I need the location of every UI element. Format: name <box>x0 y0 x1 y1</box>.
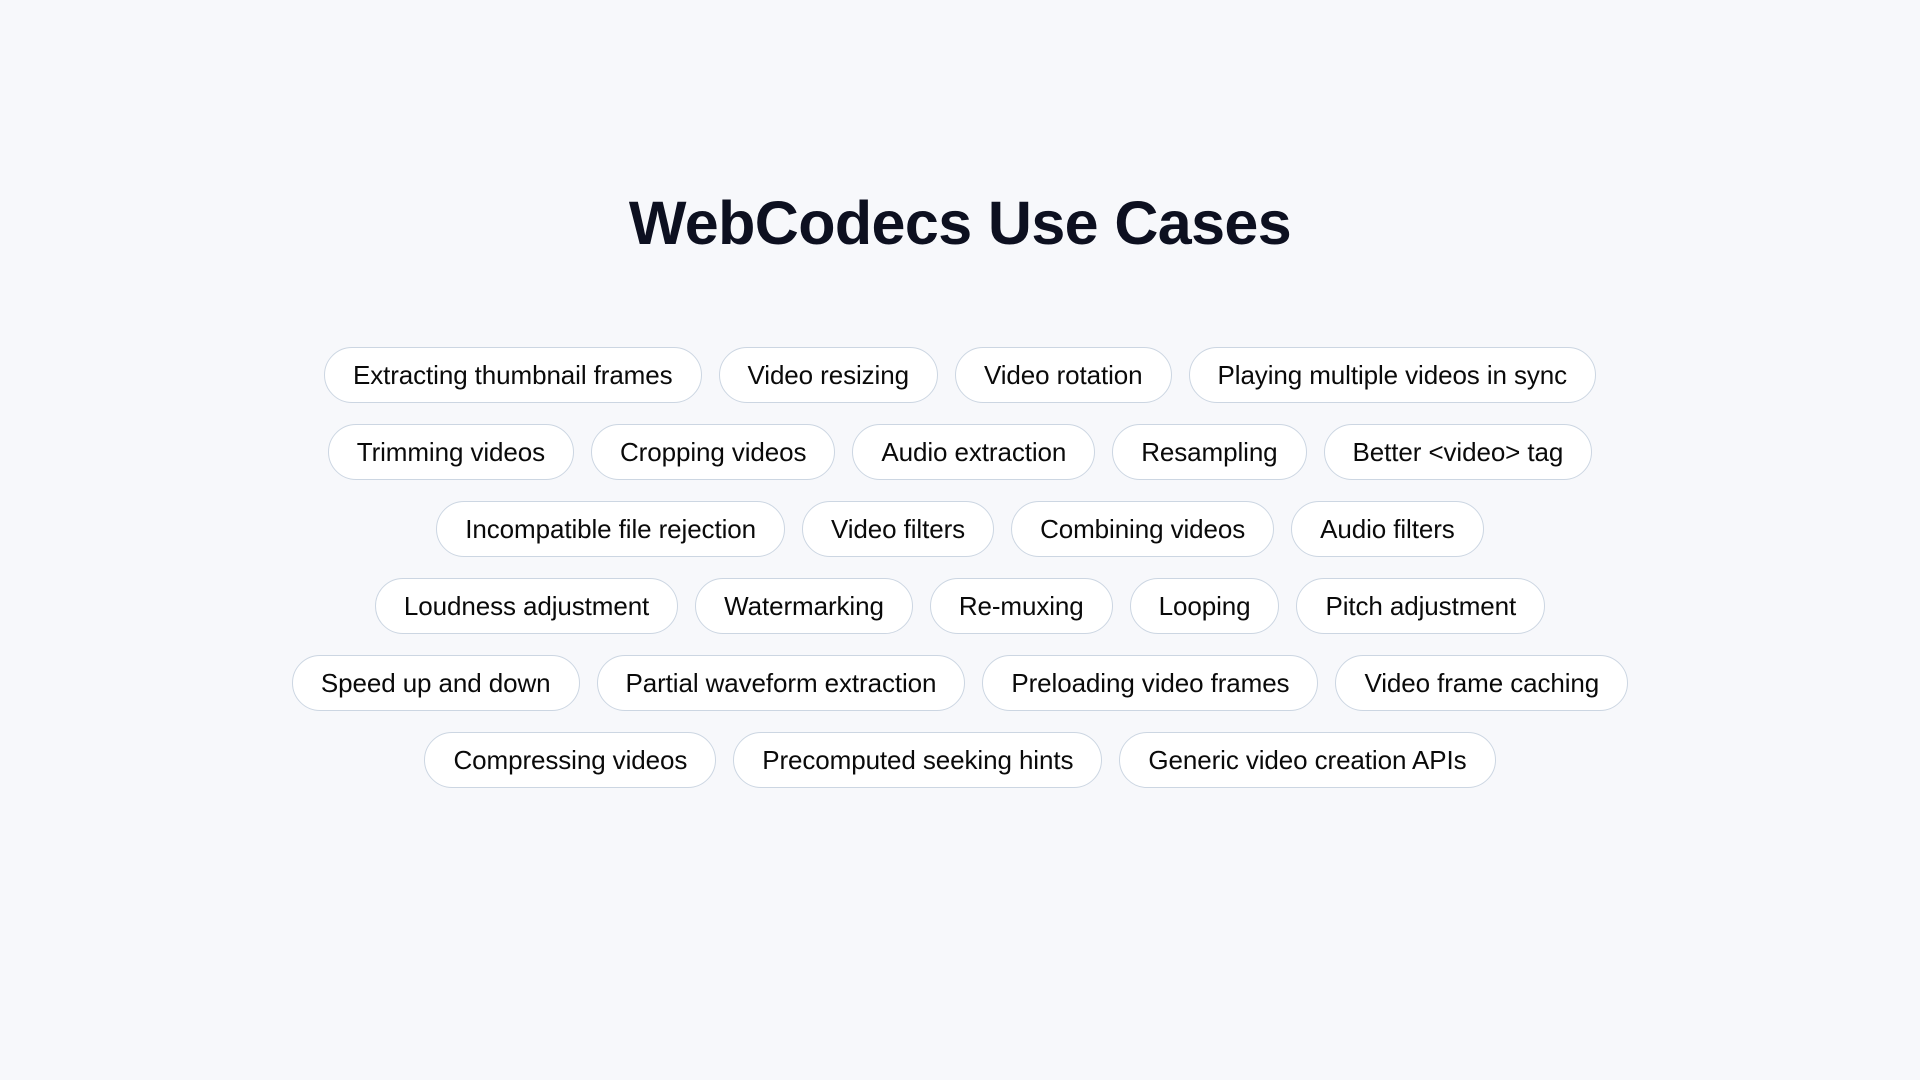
use-case-pill[interactable]: Resampling <box>1112 424 1306 480</box>
pill-row: Trimming videosCropping videosAudio extr… <box>110 424 1810 480</box>
use-case-pill[interactable]: Speed up and down <box>292 655 580 711</box>
use-case-pill[interactable]: Extracting thumbnail frames <box>324 347 702 403</box>
use-case-pill[interactable]: Audio filters <box>1291 501 1484 557</box>
use-case-pill[interactable]: Loudness adjustment <box>375 578 678 634</box>
use-case-pill-cloud: Extracting thumbnail framesVideo resizin… <box>110 347 1810 788</box>
use-case-pill[interactable]: Compressing videos <box>424 732 716 788</box>
use-case-pill[interactable]: Partial waveform extraction <box>597 655 966 711</box>
pill-row: Extracting thumbnail framesVideo resizin… <box>110 347 1810 403</box>
use-case-pill[interactable]: Incompatible file rejection <box>436 501 785 557</box>
page-root: WebCodecs Use Cases Extracting thumbnail… <box>0 0 1920 1080</box>
use-case-pill[interactable]: Video rotation <box>955 347 1172 403</box>
pill-row: Incompatible file rejectionVideo filters… <box>110 501 1810 557</box>
use-case-pill[interactable]: Video filters <box>802 501 994 557</box>
use-case-pill[interactable]: Video resizing <box>719 347 938 403</box>
use-case-pill[interactable]: Watermarking <box>695 578 913 634</box>
use-case-pill[interactable]: Trimming videos <box>328 424 574 480</box>
use-case-pill[interactable]: Looping <box>1130 578 1280 634</box>
use-case-pill[interactable]: Playing multiple videos in sync <box>1189 347 1597 403</box>
use-case-pill[interactable]: Preloading video frames <box>982 655 1318 711</box>
use-case-pill[interactable]: Generic video creation APIs <box>1119 732 1495 788</box>
use-case-pill[interactable]: Better <video> tag <box>1324 424 1593 480</box>
use-case-pill[interactable]: Audio extraction <box>852 424 1095 480</box>
use-case-pill[interactable]: Pitch adjustment <box>1296 578 1545 634</box>
pill-row: Speed up and downPartial waveform extrac… <box>110 655 1810 711</box>
use-case-pill[interactable]: Video frame caching <box>1335 655 1628 711</box>
pill-row: Loudness adjustmentWatermarkingRe-muxing… <box>110 578 1810 634</box>
page-title: WebCodecs Use Cases <box>629 190 1291 257</box>
use-case-pill[interactable]: Combining videos <box>1011 501 1274 557</box>
pill-row: Compressing videosPrecomputed seeking hi… <box>110 732 1810 788</box>
use-case-pill[interactable]: Re-muxing <box>930 578 1113 634</box>
use-case-pill[interactable]: Cropping videos <box>591 424 835 480</box>
use-case-pill[interactable]: Precomputed seeking hints <box>733 732 1102 788</box>
